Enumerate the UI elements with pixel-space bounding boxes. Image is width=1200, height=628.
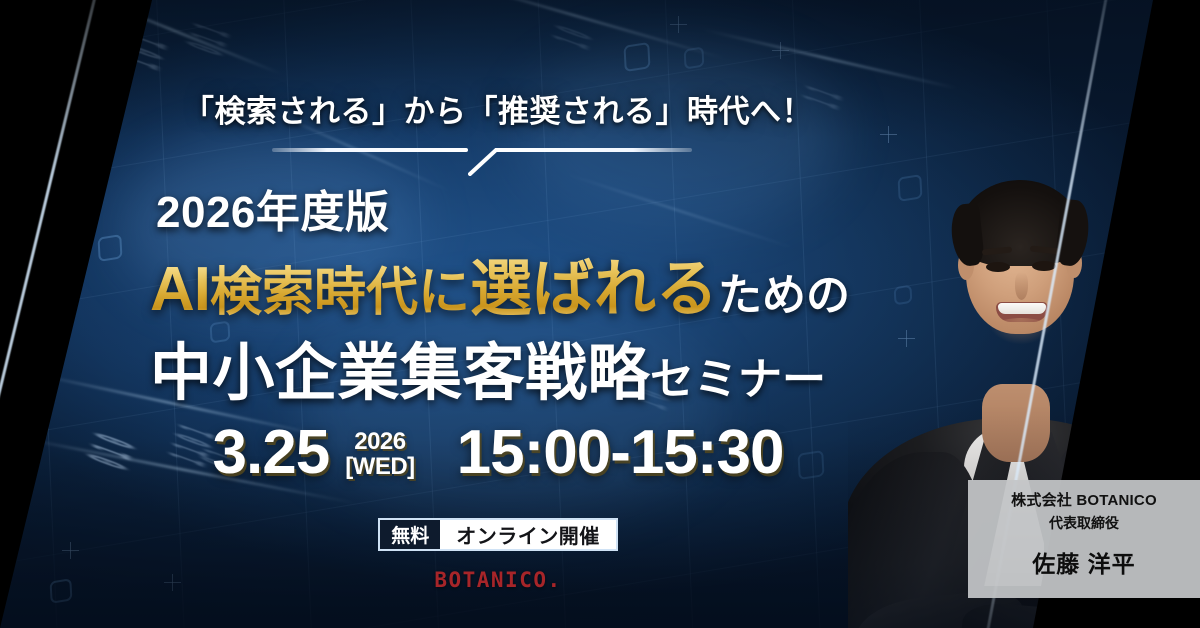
- badge-free: 無料: [378, 518, 440, 551]
- event-time: 15:00-15:30: [457, 422, 784, 484]
- badge-group: 無料 オンライン開催: [378, 518, 618, 551]
- decorative-divider: [260, 140, 680, 178]
- event-year: 2026: [354, 430, 405, 455]
- title-emphasis: 選ばれる: [470, 238, 718, 328]
- speaker-info-card: 株式会社 BOTANICO 代表取締役 佐藤 洋平: [968, 480, 1200, 598]
- event-date-meta: 2026 [WED]: [345, 430, 414, 480]
- date-time-row: 3.25 2026 [WED] 15:00-15:30: [148, 422, 848, 484]
- title-ai: AI: [150, 254, 210, 325]
- title-line-3: 中小企業集客戦略 セミナー: [150, 322, 826, 412]
- badge-format: オンライン開催: [440, 518, 618, 551]
- seminar-banner: 0 1 0 1 1 0 1 0 1 1 0 1 0 1 1 1 0 1 1 1 …: [0, 0, 1200, 628]
- event-weekday: [WED]: [345, 455, 414, 480]
- divider-line-left: [272, 148, 468, 152]
- speaker-role: 代表取締役: [1049, 513, 1119, 533]
- title-suffix: ための: [718, 259, 850, 323]
- title-mid: 検索時代に: [210, 250, 470, 325]
- badge-row: 無料 オンライン開催: [148, 518, 848, 551]
- brand-logo: BOTANICO.: [148, 568, 848, 592]
- title-year: 2026年度版: [156, 176, 389, 240]
- title-main: 中小企業集客戦略: [150, 322, 650, 412]
- speaker-company: 株式会社 BOTANICO: [1011, 489, 1157, 510]
- title-seminar: セミナー: [650, 343, 826, 407]
- divider-line-right: [496, 148, 692, 152]
- speaker-name: 佐藤 洋平: [1032, 545, 1135, 579]
- tagline: 「検索される」から「推奨される」時代へ！: [148, 86, 848, 131]
- title-line-2: AI 検索時代に 選ばれる ための: [150, 238, 850, 328]
- event-date: 3.25: [213, 422, 330, 484]
